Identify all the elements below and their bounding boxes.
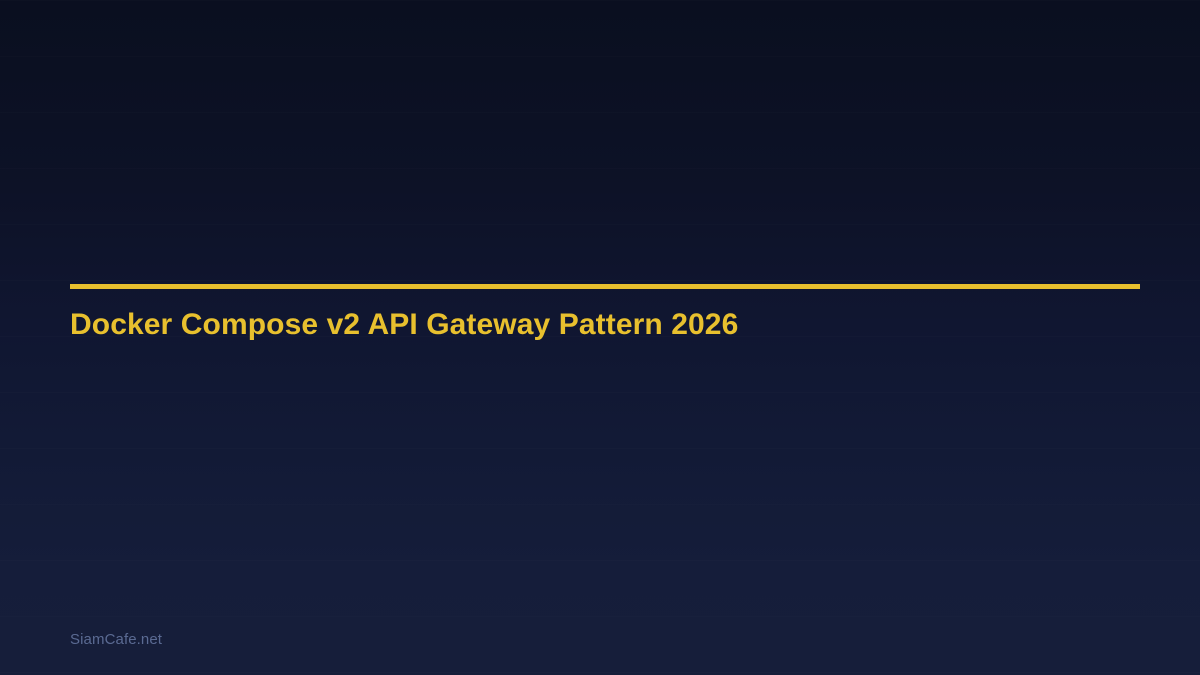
accent-rule bbox=[70, 284, 1140, 289]
page-title: Docker Compose v2 API Gateway Pattern 20… bbox=[70, 306, 738, 344]
footer-brand: SiamCafe.net bbox=[70, 630, 162, 649]
title-slide: Docker Compose v2 API Gateway Pattern 20… bbox=[0, 0, 1200, 675]
